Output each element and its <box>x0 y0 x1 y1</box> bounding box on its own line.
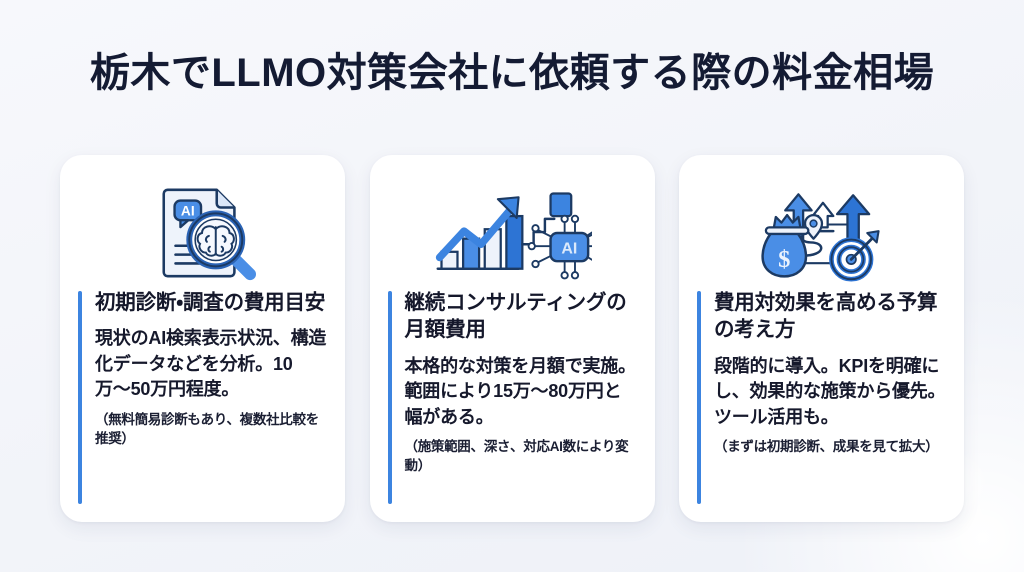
slide-canvas: 栃木でLLMO対策会社に依頼する際の料金相場 AI <box>0 0 1024 572</box>
card-note: （まずは初期診断、成果を見て拡大） <box>714 438 946 457</box>
card-cost-effectiveness[interactable]: $ 費用対効果を高める予算の考え方 段階的に導入。KPIを明確にし、効果的な施策… <box>679 155 964 522</box>
card-monthly-consulting[interactable]: AI 継続コンサルティングの月額費用 本格的な対策を月額で実施。範囲により15万… <box>370 155 655 522</box>
ai-document-magnifier-brain-icon: AI <box>78 177 327 289</box>
svg-text:AI: AI <box>561 241 577 258</box>
card-note: （施策範囲、深さ、対応AI数により変動） <box>405 438 637 475</box>
card-text-block: 初期診断・調査の費用目安 現状のAI検索表示状況、構造化データなどを分析。10万… <box>78 289 327 508</box>
card-initial-diagnosis[interactable]: AI <box>60 155 345 522</box>
card-body: 本格的な対策を月額で実施。範囲により15万〜80万円と幅がある。 <box>405 354 637 431</box>
card-text-block: 費用対効果を高める予算の考え方 段階的に導入。KPIを明確にし、効果的な施策から… <box>697 289 946 508</box>
accent-bar <box>78 291 82 504</box>
card-text-block: 継続コンサルティングの月額費用 本格的な対策を月額で実施。範囲により15万〜80… <box>388 289 637 508</box>
page-title: 栃木でLLMO対策会社に依頼する際の料金相場 <box>0 49 1024 97</box>
card-title: 初期診断・調査の費用目安 <box>95 289 327 316</box>
card-title: 費用対効果を高める予算の考え方 <box>714 289 946 344</box>
growth-chart-ai-chip-icon: AI <box>388 177 637 289</box>
svg-text:$: $ <box>778 246 790 273</box>
money-bag-target-roadmap-icon: $ <box>697 177 946 289</box>
svg-text:AI: AI <box>180 203 194 218</box>
accent-bar <box>388 291 392 504</box>
card-body: 現状のAI検索表示状況、構造化データなどを分析。10万〜50万円程度。 <box>95 326 327 403</box>
card-title: 継続コンサルティングの月額費用 <box>405 289 637 344</box>
card-note: （無料簡易診断もあり、複数社比較を推奨） <box>95 411 327 448</box>
cards-row: AI <box>60 155 964 522</box>
card-body: 段階的に導入。KPIを明確にし、効果的な施策から優先。ツール活用も。 <box>714 354 946 431</box>
accent-bar <box>697 291 701 504</box>
